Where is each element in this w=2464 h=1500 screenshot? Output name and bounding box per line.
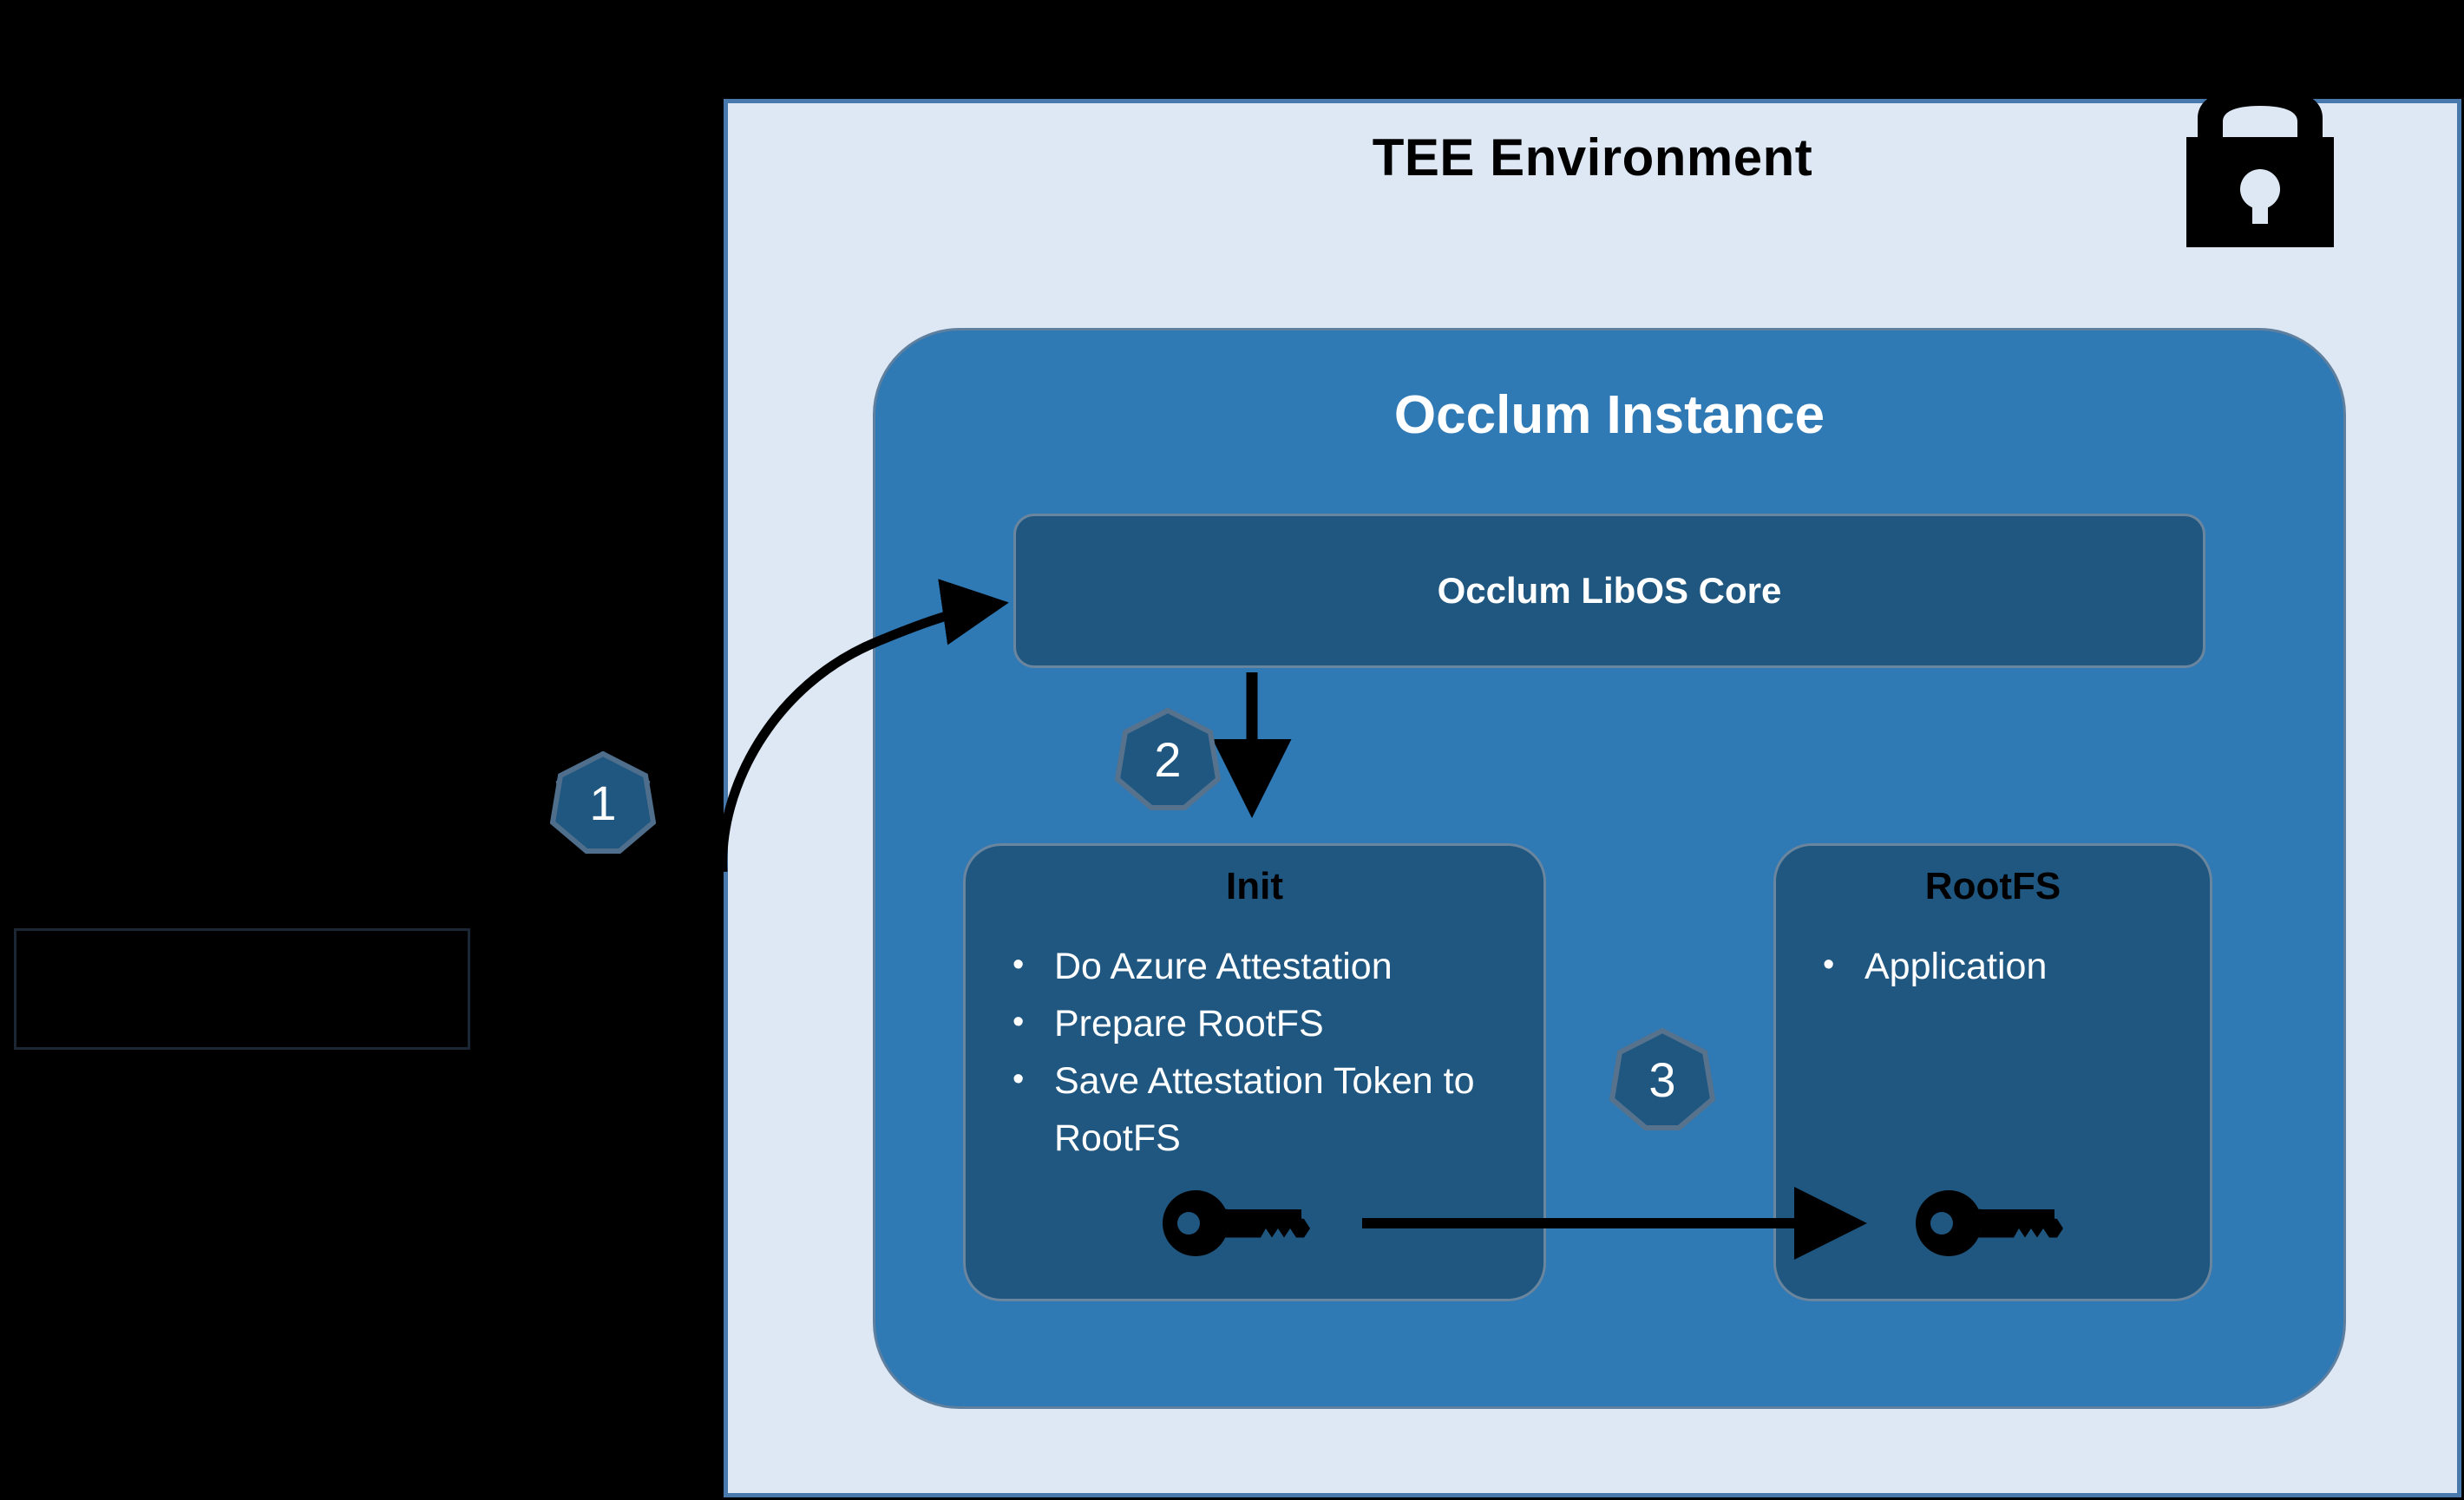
init-bullet-list: Do Azure Attestation Prepare RootFS Save…: [1000, 938, 1521, 1167]
step-2-number: 2: [1115, 708, 1221, 810]
list-item: Application: [1811, 938, 2192, 995]
left-placeholder-box: [14, 928, 470, 1050]
step-1-number: 1: [550, 751, 656, 854]
step-3-badge: 3: [1609, 1028, 1715, 1130]
step-1-badge: 1: [550, 751, 656, 854]
step-3-number: 3: [1609, 1028, 1715, 1130]
occlum-libos-core-label: Occlum LibOS Core: [1438, 570, 1782, 612]
list-item: Prepare RootFS: [1000, 995, 1521, 1052]
key-icon: [1916, 1190, 2063, 1256]
init-title: Init: [966, 865, 1543, 908]
occlum-instance-title: Occlum Instance: [875, 384, 2343, 446]
padlock-icon: [2171, 87, 2349, 252]
list-item: Do Azure Attestation: [1000, 938, 1521, 995]
step-2-badge: 2: [1115, 708, 1221, 810]
diagram-canvas: TEE Environment Occlum Instance Occlum L…: [0, 0, 2464, 1500]
occlum-libos-core-box: Occlum LibOS Core: [1013, 514, 2205, 668]
list-item: Save Attestation Token to RootFS: [1000, 1052, 1521, 1167]
rootfs-title: RootFS: [1776, 865, 2210, 908]
rootfs-bullet-list: Application: [1811, 938, 2192, 995]
key-icon: [1163, 1190, 1310, 1256]
